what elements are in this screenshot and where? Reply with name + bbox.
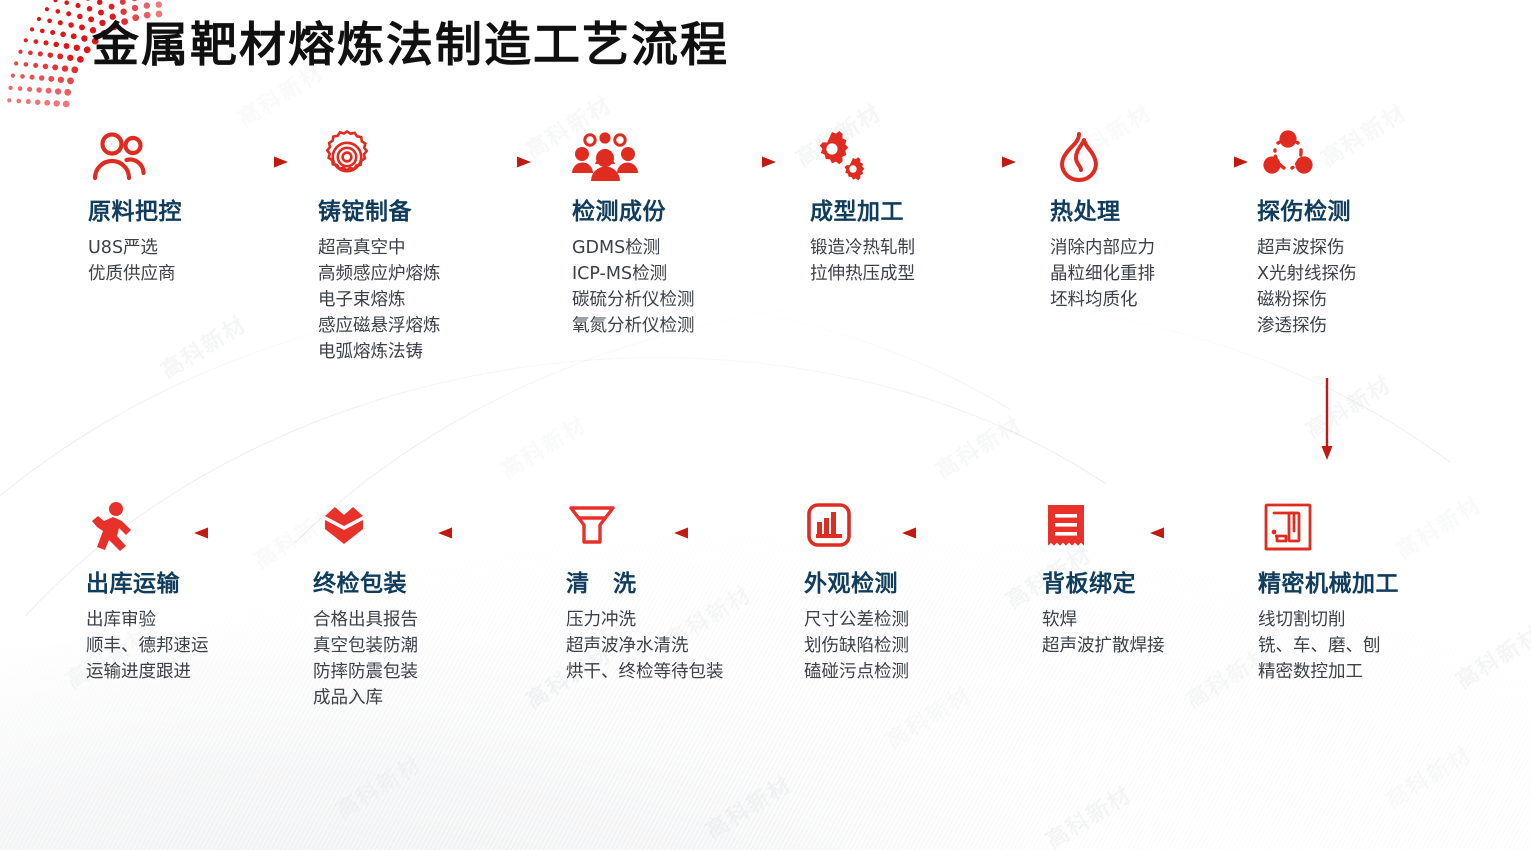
list-item: 电子束熔炼 (318, 287, 441, 313)
step-appearance-inspection[interactable]: 外观检测 尺寸公差检测 划伤缺陷检测 磕碰污点检测 (804, 500, 909, 685)
step-title: 精密机械加工 (1258, 564, 1399, 598)
step-detail-list: 消除内部应力 晶粒细化重排 坯料均质化 (1050, 235, 1155, 313)
two-people-icon (88, 128, 182, 186)
arrow-1-2 (200, 155, 290, 169)
list-item: 防摔防震包装 (313, 659, 418, 685)
list-item: 烘干、终检等待包装 (566, 659, 726, 685)
arrow-3-4 (688, 155, 778, 169)
step-title: 探伤检测 (1257, 192, 1357, 226)
step-outbound-shipping[interactable]: 出库运输 出库审验 顺丰、德邦速运 运输进度跟进 (86, 500, 209, 685)
arrow-2-3 (443, 155, 533, 169)
list-item: 超声波扩散焊接 (1042, 633, 1165, 659)
step-detail-list: 尺寸公差检测 划伤缺陷检测 磕碰污点检测 (804, 607, 909, 685)
flame-icon (1050, 128, 1155, 186)
step-detail-list: GDMS检测 ICP-MS检测 碳硫分析仪检测 氧氮分析仪检测 (572, 235, 695, 339)
step-forming-processing[interactable]: 成型加工 锻造冷热轧制 拉伸热压成型 (810, 128, 915, 287)
step-raw-material-control[interactable]: 原料把控 U8S严选 优质供应商 (88, 128, 182, 287)
arrow-4-5 (928, 155, 1018, 169)
step-detail-list: 超声波探伤 X光射线探伤 磁粉探伤 渗透探伤 (1257, 235, 1357, 339)
people-group-icon (572, 128, 695, 186)
list-item: 超声波探伤 (1257, 235, 1357, 261)
list-item: 线切割切削 (1258, 607, 1399, 633)
list-item: 运输进度跟进 (86, 659, 209, 685)
list-item: 晶粒细化重排 (1050, 261, 1155, 287)
step-title: 热处理 (1050, 192, 1155, 226)
step-flaw-detection[interactable]: 探伤检测 超声波探伤 X光射线探伤 磁粉探伤 渗透探伤 (1257, 128, 1357, 339)
walking-person-icon (86, 500, 209, 558)
step-detail-list: 锻造冷热轧制 拉伸热压成型 (810, 235, 915, 287)
arrow-5-6 (1160, 155, 1250, 169)
step-heat-treatment[interactable]: 热处理 消除内部应力 晶粒细化重排 坯料均质化 (1050, 128, 1155, 313)
step-title: 原料把控 (88, 192, 182, 226)
step-title: 铸锭制备 (318, 192, 441, 226)
list-item: 磕碰污点检测 (804, 659, 909, 685)
step-title: 清 洗 (566, 564, 726, 598)
step-title: 背板绑定 (1042, 564, 1165, 598)
list-item: GDMS检测 (572, 235, 695, 261)
list-item: 优质供应商 (88, 261, 182, 287)
step-composition-testing[interactable]: 检测成份 GDMS检测 ICP-MS检测 碳硫分析仪检测 氧氮分析仪检测 (572, 128, 695, 339)
list-item: 锻造冷热轧制 (810, 235, 915, 261)
list-item: 软焊 (1042, 607, 1165, 633)
arrow-8-9 (900, 526, 990, 540)
list-item: 高频感应炉熔炼 (318, 261, 441, 287)
step-detail-list: 超高真空中 高频感应炉熔炼 电子束熔炼 感应磁悬浮熔炼 电弧熔炼法铸 (318, 235, 441, 365)
list-item: 压力冲洗 (566, 607, 726, 633)
factory-badge-icon (804, 500, 909, 558)
list-item: ICP-MS检测 (572, 261, 695, 287)
list-item: 超高真空中 (318, 235, 441, 261)
step-title: 外观检测 (804, 564, 909, 598)
list-item: 碳硫分析仪检测 (572, 287, 695, 313)
step-final-inspection-packaging[interactable]: 终检包装 合格出具报告 真空包装防潮 防摔防震包装 成品入库 (313, 500, 418, 711)
list-item: 出库审验 (86, 607, 209, 633)
list-item: 电弧熔炼法铸 (318, 339, 441, 365)
page-title: 金属靶材熔炼法制造工艺流程 (92, 6, 729, 75)
list-item: 真空包装防潮 (313, 633, 418, 659)
step-detail-list: 合格出具报告 真空包装防潮 防摔防震包装 成品入库 (313, 607, 418, 711)
list-item: U8S严选 (88, 235, 182, 261)
list-item: 拉伸热压成型 (810, 261, 915, 287)
open-box-icon (313, 500, 418, 558)
step-detail-list: 线切割切削 铣、车、磨、刨 精密数控加工 (1258, 607, 1399, 685)
step-cleaning[interactable]: 清 洗 压力冲洗 超声波净水清洗 烘干、终检等待包装 (566, 500, 726, 685)
list-item: 铣、车、磨、刨 (1258, 633, 1399, 659)
step-detail-list: 出库审验 顺丰、德邦速运 运输进度跟进 (86, 607, 209, 685)
list-item: 超声波净水清洗 (566, 633, 726, 659)
list-item: 感应磁悬浮熔炼 (318, 313, 441, 339)
step-title: 出库运输 (86, 564, 209, 598)
list-item: 氧氮分析仪检测 (572, 313, 695, 339)
list-item: 成品入库 (313, 685, 418, 711)
list-item: 坯料均质化 (1050, 287, 1155, 313)
step-detail-list: U8S严选 优质供应商 (88, 235, 182, 287)
list-item: 渗透探伤 (1257, 313, 1357, 339)
three-dot-triangle-icon (1257, 128, 1357, 186)
receipt-icon (1042, 500, 1165, 558)
step-title: 终检包装 (313, 564, 418, 598)
double-gear-icon (810, 128, 915, 186)
cnc-machine-icon (1258, 500, 1399, 558)
process-flow-infographic: 高科新材高科新材高科新材高科新材高科新材高科新材高科新材高科新材高科新材高科新材… (0, 0, 1531, 850)
arrow-10-11 (436, 526, 526, 540)
list-item: 消除内部应力 (1050, 235, 1155, 261)
step-backplate-bonding[interactable]: 背板绑定 软焊 超声波扩散焊接 (1042, 500, 1165, 659)
list-item: 划伤缺陷检测 (804, 633, 909, 659)
step-ingot-preparation[interactable]: 铸锭制备 超高真空中 高频感应炉熔炼 电子束熔炼 感应磁悬浮熔炼 电弧熔炼法铸 (318, 128, 441, 365)
step-title: 检测成份 (572, 192, 695, 226)
list-item: 精密数控加工 (1258, 659, 1399, 685)
list-item: X光射线探伤 (1257, 261, 1357, 287)
gear-target-icon (318, 128, 441, 186)
arrow-6-7 (1320, 378, 1334, 462)
step-detail-list: 软焊 超声波扩散焊接 (1042, 607, 1165, 659)
step-precision-machining[interactable]: 精密机械加工 线切割切削 铣、车、磨、刨 精密数控加工 (1258, 500, 1399, 685)
list-item: 合格出具报告 (313, 607, 418, 633)
step-detail-list: 压力冲洗 超声波净水清洗 烘干、终检等待包装 (566, 607, 726, 685)
list-item: 顺丰、德邦速运 (86, 633, 209, 659)
list-item: 磁粉探伤 (1257, 287, 1357, 313)
step-title: 成型加工 (810, 192, 915, 226)
funnel-icon (566, 500, 726, 558)
list-item: 尺寸公差检测 (804, 607, 909, 633)
